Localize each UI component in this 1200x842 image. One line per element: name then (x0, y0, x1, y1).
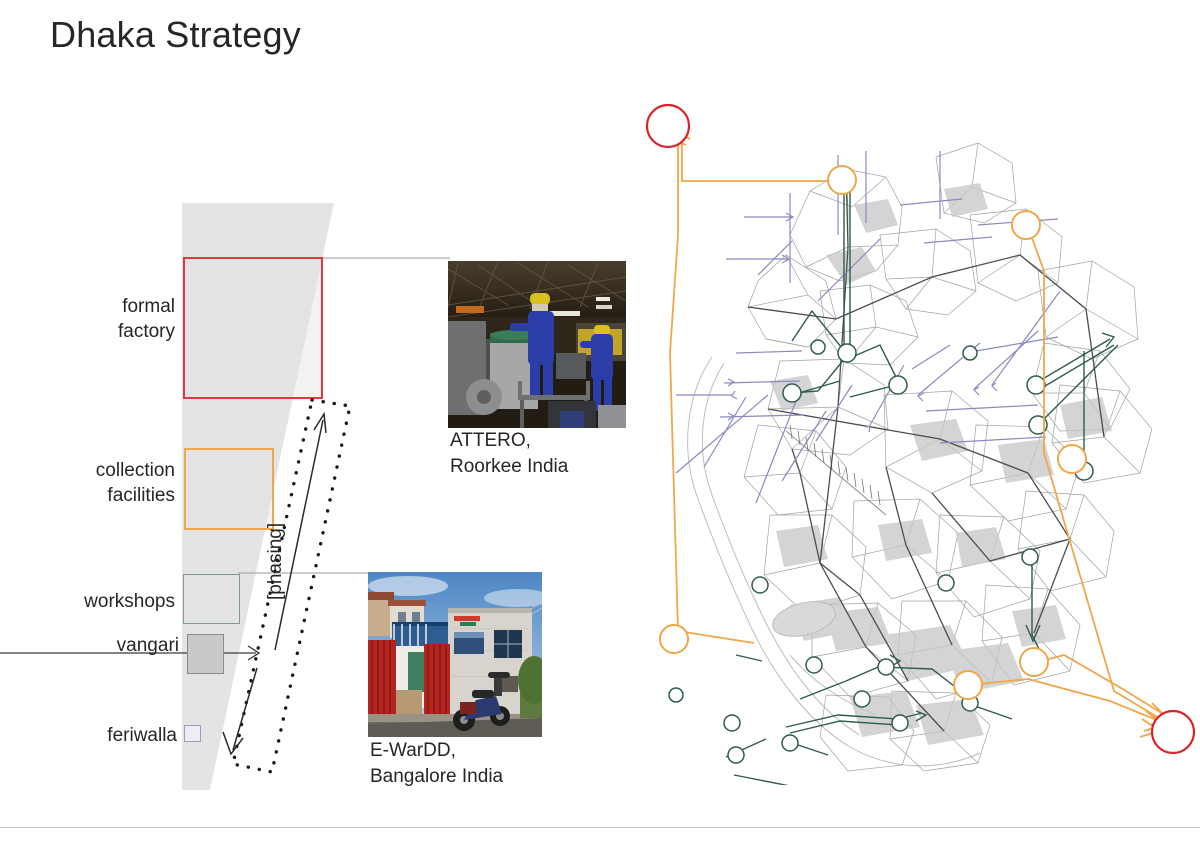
slide-canvas: Dhaka Strategy formal factory collection… (0, 0, 1200, 842)
map-purple-arrowheads (728, 213, 997, 432)
map-green-flows (726, 183, 1118, 785)
tier-label-formal-factory: formal factory (30, 294, 175, 344)
dhaka-network-map[interactable] (640, 95, 1200, 785)
tier-label-feriwalla: feriwalla (30, 723, 177, 748)
red-node-export-north (647, 105, 689, 147)
map-street-network (744, 143, 1152, 771)
phasing-capsule (195, 390, 395, 790)
photo-caption-ewardd: E-WarDD, Bangalore India (370, 738, 630, 790)
photo-ewardd (368, 572, 542, 737)
phasing-label: [phasing] (265, 523, 287, 600)
photo-attero (448, 261, 626, 428)
tier-label-vangari: vangari (30, 633, 179, 658)
tier-label-collection-facilities: collection facilities (14, 458, 175, 508)
footer-divider (0, 827, 1200, 828)
red-node-export-south (1152, 711, 1194, 753)
tier-box-formal-factory[interactable] (183, 257, 323, 399)
tier-label-workshops: workshops (30, 589, 175, 614)
